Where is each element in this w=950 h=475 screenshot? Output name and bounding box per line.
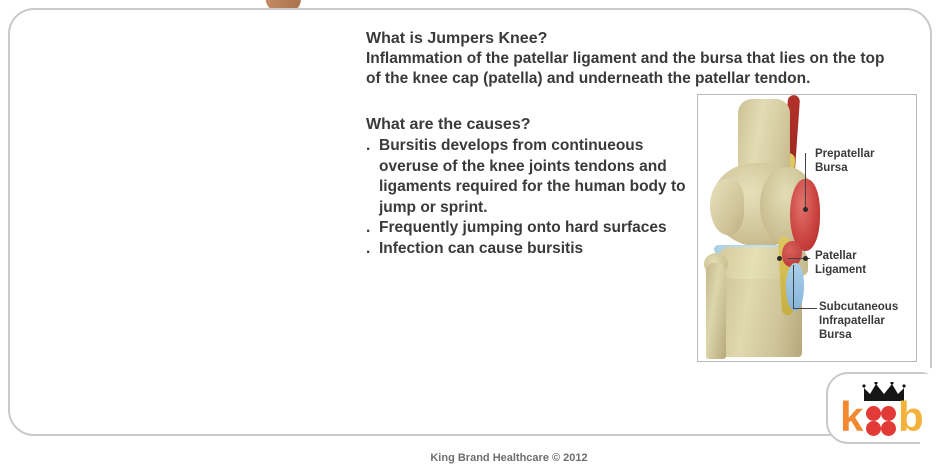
list-item-text: Frequently jumping onto hard surfaces (379, 219, 667, 236)
causes-list: .Bursitis develops from continueous over… (366, 136, 696, 259)
logo-letter-k: k (840, 396, 863, 438)
causes-section: What are the causes? .Bursitis develops … (366, 116, 696, 259)
clover-petal (881, 421, 896, 436)
fibula-bone (706, 263, 726, 359)
label-patellar-ligament: Patellar Ligament (815, 249, 866, 277)
list-item-text: Bursitis develops from continueous overu… (379, 137, 686, 216)
clover-petal (881, 406, 896, 421)
logo-letter-b: b (898, 396, 924, 438)
bullet-marker: . (366, 218, 379, 239)
clover-petal (866, 406, 881, 421)
copyright-notice: King Brand Healthcare © 2012 (0, 452, 950, 464)
bullet-marker: . (366, 136, 379, 157)
list-item: .Frequently jumping onto hard surfaces (366, 218, 696, 239)
clover-petal (866, 421, 881, 436)
list-item: .Bursitis develops from continueous over… (366, 136, 696, 218)
leader-line-subcutaneous-h (793, 308, 817, 309)
list-item-text: Infection can cause bursitis (379, 240, 583, 257)
bullet-marker: . (366, 239, 379, 260)
callout-dot-prepatellar (803, 207, 808, 212)
label-prepatellar-bursa: Prepatellar Bursa (815, 147, 874, 175)
label-subcutaneous-infrapatellar-bursa: Subcutaneous Infrapatellar Bursa (819, 300, 898, 342)
patella-kneecap (710, 179, 744, 235)
subcutaneous-infrapatellar-bursa-shape (786, 263, 804, 311)
what-is-section: What is Jumpers Knee? Inflammation of th… (366, 30, 896, 89)
leader-line-prepatellar (805, 153, 806, 209)
what-is-body-line1: Inflammation of the patellar ligament an… (366, 49, 896, 69)
jumpers-knee-poster: Jumpers Knee (0, 0, 950, 475)
what-is-heading: What is Jumpers Knee? (366, 30, 896, 48)
callout-dot-patellar (777, 256, 782, 261)
causes-heading: What are the causes? (366, 116, 696, 134)
what-is-body-line2: of the knee cap (patella) and underneath… (366, 69, 896, 89)
list-item: .Infection can cause bursitis (366, 239, 696, 260)
knee-anatomy-diagram: Prepatellar Bursa Patellar Ligament Subc… (697, 94, 917, 362)
leader-line-subcutaneous-v (793, 265, 794, 309)
copyright-text: King Brand Healthcare © 2012 (430, 452, 587, 464)
callout-dot-patellar-end (803, 256, 808, 261)
king-brand-logo[interactable]: k b (840, 384, 932, 436)
